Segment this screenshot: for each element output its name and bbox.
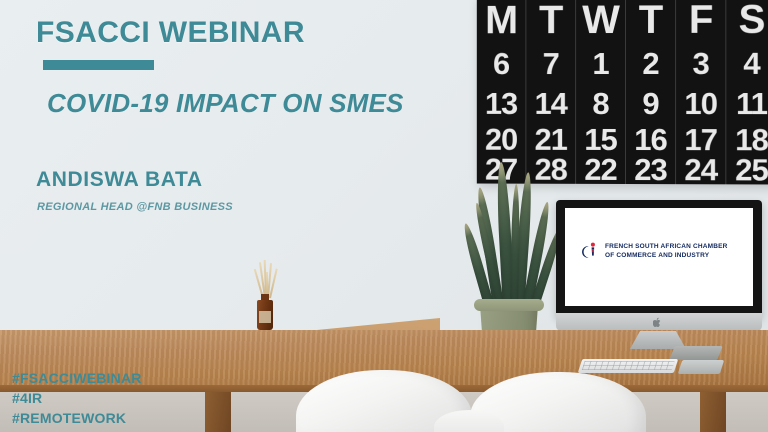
- calendar-column-6: S4111825: [726, 0, 768, 184]
- calendar-date: 10: [676, 88, 725, 119]
- calendar-column-3: W181522: [576, 0, 626, 184]
- calendar-date: 11: [726, 88, 768, 119]
- calendar-date: 17: [676, 124, 725, 155]
- calendar-day-header: M: [477, 0, 526, 40]
- calendar-day-header: S: [726, 0, 768, 40]
- calendar-day-header: F: [676, 0, 725, 40]
- cci-monogram-icon: [575, 240, 599, 264]
- calendar-date: 4: [726, 48, 768, 79]
- apple-keyboard: [578, 359, 679, 373]
- calendar-date: 25: [726, 154, 768, 185]
- desk-leg-right: [700, 392, 726, 432]
- calendar-date: 14: [526, 88, 575, 119]
- calendar-date: 20: [477, 124, 526, 155]
- calendar-date: 3: [676, 48, 725, 79]
- calendar-column-2: T7142128: [526, 0, 576, 184]
- calendar-column-4: T291623: [626, 0, 676, 184]
- fsacci-logo-line1: FRENCH SOUTH AFRICAN CHAMBER: [605, 243, 728, 252]
- hashtag-list: #FSACCIWEBINAR#4IR#REMOTEWORK: [12, 368, 142, 428]
- calendar-date: 18: [726, 124, 768, 155]
- desk-leg-left: [205, 392, 231, 432]
- webinar-slide: M6132027T7142128W181522T291623F3101724S4…: [0, 0, 768, 432]
- calendar-column-5: F3101724: [676, 0, 726, 184]
- page-title: FSACCI WEBINAR: [36, 16, 305, 50]
- calendar-day-header: T: [626, 0, 675, 40]
- calendar-date: 22: [576, 154, 625, 185]
- calendar-date: 9: [626, 88, 675, 119]
- calendar-day-header: W: [576, 0, 625, 40]
- calendar-date: 28: [526, 154, 575, 185]
- calendar-column-1: M6132027: [477, 0, 527, 184]
- speaker-role: REGIONAL HEAD @FNB BUSINESS: [37, 201, 233, 213]
- calendar-date: 2: [626, 48, 675, 79]
- fsacci-logo-text: FRENCH SOUTH AFRICAN CHAMBER OF COMMERCE…: [605, 243, 728, 260]
- calendar-date: 23: [626, 154, 675, 185]
- calendar-date: 6: [477, 48, 526, 79]
- diffuser-label: [259, 311, 271, 323]
- calendar-date: 7: [526, 48, 575, 79]
- calendar-date: 15: [576, 124, 625, 155]
- apple-trackpad: [678, 360, 725, 374]
- fsacci-logo-line2: OF COMMERCE AND INDUSTRY: [605, 252, 728, 261]
- plant-pot-rim: [474, 299, 544, 311]
- calendar-date: 1: [576, 48, 625, 79]
- calendar-date: 8: [576, 88, 625, 119]
- calendar-date: 21: [526, 124, 575, 155]
- calendar-date: 13: [477, 88, 526, 119]
- hashtag-1: #FSACCIWEBINAR: [12, 368, 142, 388]
- title-underline-rule: [43, 60, 154, 70]
- imac-foot: [669, 346, 723, 360]
- fsacci-logo: FRENCH SOUTH AFRICAN CHAMBER OF COMMERCE…: [575, 240, 728, 264]
- hashtag-3: #REMOTEWORK: [12, 408, 142, 428]
- speaker-name: ANDISWA BATA: [36, 168, 203, 192]
- apple-logo-icon: [653, 317, 662, 328]
- calendar-date: 16: [626, 124, 675, 155]
- hashtag-2: #4IR: [12, 388, 142, 408]
- subtitle: COVID-19 IMPACT ON SMES: [47, 88, 404, 119]
- calendar-date: 24: [676, 154, 725, 185]
- calendar-day-header: T: [526, 0, 575, 40]
- wall-calendar: M6132027T7142128W181522T291623F3101724S4…: [477, 0, 768, 184]
